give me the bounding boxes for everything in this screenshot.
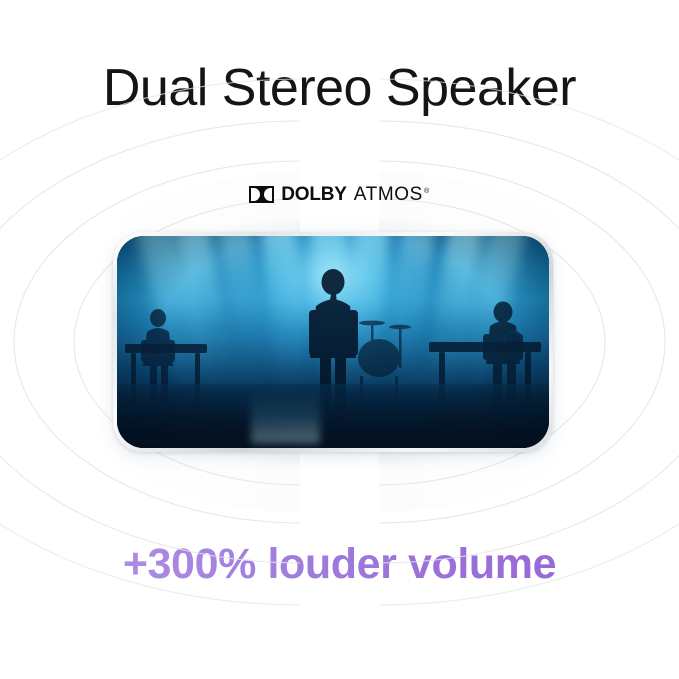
tagline-text: +300% louder volume: [0, 541, 679, 588]
concert-scene: [117, 236, 549, 448]
registered-trademark-icon: ®: [424, 188, 430, 195]
atmos-format-text: ATMOS®: [354, 185, 430, 204]
screen-vignette: [117, 236, 549, 448]
page-title: Dual Stereo Speaker: [0, 60, 679, 117]
dolby-atmos-badge: DOLBY ATMOS®: [0, 185, 679, 204]
smartphone-device: [113, 232, 553, 452]
device-frame: [113, 232, 553, 452]
atmos-label: ATMOS: [354, 184, 423, 205]
dolby-double-d-icon: [249, 186, 274, 203]
dolby-brand-text: DOLBY: [281, 185, 347, 204]
promo-poster: Dual Stereo Speaker DOLBY ATMOS®: [0, 0, 679, 679]
device-screen: [117, 236, 549, 448]
